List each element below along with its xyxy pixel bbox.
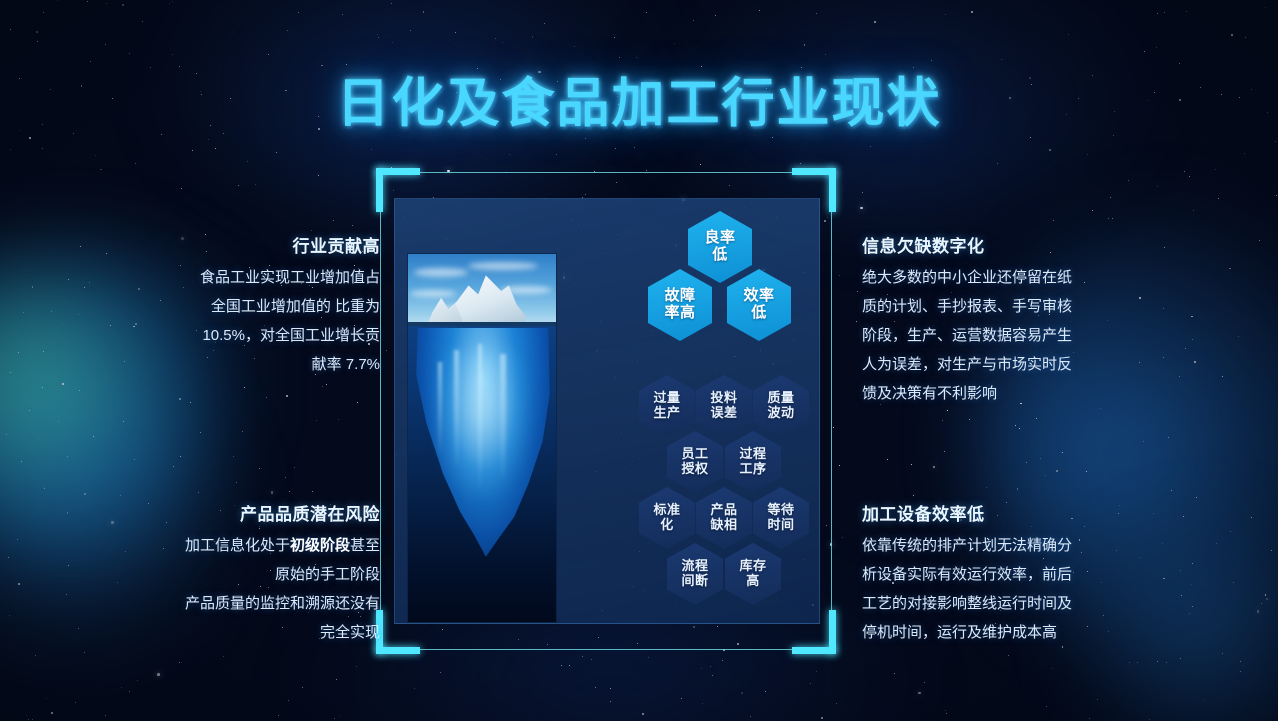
slide-canvas: 日化及食品加工行业现状 良率低故障率高效率低过量生产投料误差质量波动员工授权过程… [0, 0, 1278, 721]
hex-label-line2: 误差 [710, 406, 737, 421]
body-line: 工艺的对接影响整线运行时间及 [862, 595, 1072, 612]
cloud [410, 290, 456, 297]
block-heading: 信息欠缺数字化 [862, 232, 1112, 257]
hex-label-line2: 工序 [739, 462, 766, 477]
block-heading: 行业贡献高 [142, 232, 380, 257]
hex-label-line1: 质量 [767, 391, 794, 406]
block-body: 绝大多数的中小企业还停留在纸 质的计划、手抄报表、手写审核 阶段，生产、运营数据… [862, 263, 1112, 408]
body-line: 全国工业增加值的 比重为 [211, 298, 380, 315]
hex-label-line2: 低 [743, 305, 774, 322]
iceberg-inner-glow [434, 350, 530, 500]
text-block-quality-risk: 产品品质潜在风险 加工信息化处于初级阶段甚至 原始的手工阶段 产品质量的监控和溯… [142, 500, 380, 647]
body-line: 人为误差，对生产与市场实时反 [862, 356, 1072, 373]
hex-label-line1: 效率 [743, 288, 774, 305]
hex-label-line1: 标准 [653, 503, 680, 518]
body-line: 阶段，生产、运营数据容易产生 [862, 327, 1072, 344]
iceberg-photo [408, 254, 556, 622]
hex-label-line1: 良率 [704, 230, 735, 247]
block-heading: 产品品质潜在风险 [142, 500, 380, 525]
body-line: 加工信息化处于 [185, 537, 290, 554]
body-line: 质的计划、手抄报表、手写审核 [862, 298, 1072, 315]
body-line: 停机时间，运行及维护成本高 [862, 624, 1057, 641]
body-emphasis: 初级阶段 [290, 537, 350, 554]
body-line: 原始的手工阶段 [275, 566, 380, 583]
page-title: 日化及食品加工行业现状 [0, 74, 1278, 134]
text-block-lack-digitization: 信息欠缺数字化 绝大多数的中小企业还停留在纸 质的计划、手抄报表、手写审核 阶段… [862, 232, 1112, 408]
body-line: 献率 7.7% [312, 356, 380, 373]
hex-label-line1: 投料 [710, 391, 737, 406]
text-block-low-equipment-efficiency: 加工设备效率低 依靠传统的排产计划无法精确分 析设备实际有效运行效率，前后 工艺… [862, 500, 1112, 647]
hex-label-line2: 授权 [681, 462, 708, 477]
hex-label-line2: 时间 [767, 518, 794, 533]
hex-label-line1: 产品 [710, 503, 737, 518]
block-body: 食品工业实现工业增加值占 全国工业增加值的 比重为 10.5%，对全国工业增长贡… [142, 263, 380, 379]
block-body: 加工信息化处于初级阶段甚至 原始的手工阶段 产品质量的监控和溯源还没有 完全实现 [142, 531, 380, 647]
cloud [468, 262, 538, 270]
body-line: 馈及决策有不利影响 [862, 385, 997, 402]
hex-label-line2: 波动 [767, 406, 794, 421]
body-line: 甚至 [350, 537, 380, 554]
hex-label-line2: 间断 [681, 574, 708, 589]
hex-label-line2: 高 [739, 574, 766, 589]
hex-label-line1: 过程 [739, 447, 766, 462]
hex-label-line2: 率高 [664, 305, 695, 322]
body-line: 依靠传统的排产计划无法精确分 [862, 537, 1072, 554]
block-heading: 加工设备效率低 [862, 500, 1112, 525]
body-line: 10.5%，对全国工业增长贡 [202, 327, 380, 344]
hex-label-line1: 流程 [681, 559, 708, 574]
corner-bracket-top-right [792, 168, 836, 212]
ice-streak [478, 344, 482, 494]
ice-streak [454, 350, 459, 470]
hex-label-line1: 等待 [767, 503, 794, 518]
hex-label-line2: 低 [704, 247, 735, 264]
body-line: 析设备实际有效运行效率，前后 [862, 566, 1072, 583]
ice-streak [500, 354, 506, 482]
body-line: 产品质量的监控和溯源还没有 [185, 595, 380, 612]
corner-bracket-top-left [376, 168, 420, 212]
hex-label-line1: 库存 [739, 559, 766, 574]
hex-label-line1: 过量 [653, 391, 680, 406]
ice-streak [438, 362, 442, 458]
hex-label-line2: 缺相 [710, 518, 737, 533]
hex-label-line1: 故障 [664, 288, 695, 305]
block-body: 依靠传统的排产计划无法精确分 析设备实际有效运行效率，前后 工艺的对接影响整线运… [862, 531, 1112, 647]
hex-label-line2: 生产 [653, 406, 680, 421]
corner-bracket-bottom-right [792, 610, 836, 654]
body-line: 食品工业实现工业增加值占 [200, 269, 380, 286]
body-line: 绝大多数的中小企业还停留在纸 [862, 269, 1072, 286]
text-block-industry-contribution: 行业贡献高 食品工业实现工业增加值占 全国工业增加值的 比重为 10.5%，对全… [142, 232, 380, 379]
body-line: 完全实现 [320, 624, 380, 641]
cloud [414, 268, 468, 277]
hex-label-line1: 员工 [681, 447, 708, 462]
hex-label-line2: 化 [653, 518, 680, 533]
